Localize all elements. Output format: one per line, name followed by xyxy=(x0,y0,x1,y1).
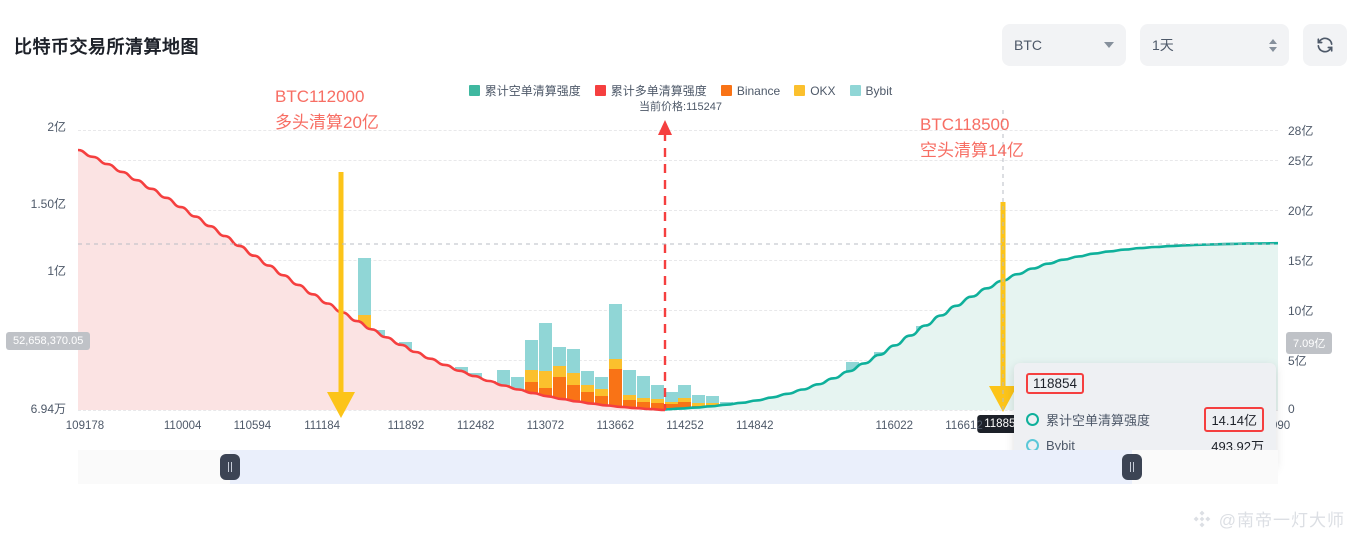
legend-label: 累计空单清算强度 xyxy=(485,82,581,99)
annotation-2-line1: BTC118500 xyxy=(920,112,1024,138)
symbol-select-value: BTC xyxy=(1014,37,1042,53)
legend-swatch xyxy=(794,85,805,96)
tooltip-series-dot xyxy=(1026,413,1039,426)
refresh-button[interactable] xyxy=(1303,24,1347,66)
legend-item-3[interactable]: OKX xyxy=(794,84,835,98)
legend-swatch xyxy=(850,85,861,96)
data-zoom-handle-right[interactable] xyxy=(1122,454,1142,480)
x-tick: 116022 xyxy=(876,420,914,432)
legend-item-4[interactable]: Bybit xyxy=(850,84,893,98)
annotation-1-line1: BTC112000 xyxy=(275,84,379,110)
legend-label: OKX xyxy=(810,84,835,98)
data-zoom-selection[interactable] xyxy=(230,450,1132,484)
annotation-1: BTC112000 多头清算20亿 xyxy=(275,84,379,135)
tooltip-row-0: 累计空单清算强度14.14亿 xyxy=(1026,407,1264,432)
x-tick: 113072 xyxy=(527,420,565,432)
cumulative-long-area xyxy=(78,150,665,410)
data-zoom-slider[interactable] xyxy=(0,450,1361,484)
legend-label: 累计多单清算强度 xyxy=(611,82,707,99)
liquidation-map-app: 比特币交易所清算地图 BTC 1天 累计空单清算强度累计多单清算强度Binanc… xyxy=(0,0,1361,539)
x-tick: 114252 xyxy=(666,420,704,432)
legend-item-0[interactable]: 累计空单清算强度 xyxy=(469,82,581,99)
period-select-value: 1天 xyxy=(1152,35,1174,55)
annotation-2-line2: 空头清算14亿 xyxy=(920,138,1024,164)
legend-item-1[interactable]: 累计多单清算强度 xyxy=(595,82,707,99)
y-axis-left-badge: 52,658,370.05 xyxy=(6,332,90,350)
x-tick: 109178 xyxy=(66,420,104,432)
stepper-icon xyxy=(1269,39,1277,52)
tooltip-header: 118854 xyxy=(1026,373,1084,394)
legend-label: Bybit xyxy=(866,84,893,98)
y-axis-right-badge: 7.09亿 xyxy=(1286,332,1332,354)
tooltip-series-value: 14.14亿 xyxy=(1204,407,1264,432)
diamond-logo-icon xyxy=(1192,509,1212,529)
legend-label: Binance xyxy=(737,84,780,98)
watermark-text: @南帝一灯大师 xyxy=(1219,506,1345,531)
x-tick: 110004 xyxy=(164,420,202,432)
chevron-down-icon xyxy=(1104,42,1114,48)
x-tick: 113662 xyxy=(596,420,634,432)
annotation-2: BTC118500 空头清算14亿 xyxy=(920,112,1024,163)
x-tick: 112482 xyxy=(457,420,495,432)
annotation-1-line2: 多头清算20亿 xyxy=(275,110,379,136)
chart-legend: 累计空单清算强度累计多单清算强度BinanceOKXBybit xyxy=(0,82,1361,99)
legend-swatch xyxy=(721,85,732,96)
data-zoom-handle-left[interactable] xyxy=(220,454,240,480)
tooltip-series-name: 累计空单清算强度 xyxy=(1046,410,1150,429)
tooltip-rows: 累计空单清算强度14.14亿Bybit493.92万 xyxy=(1026,407,1264,455)
legend-swatch xyxy=(469,85,480,96)
x-tick: 111892 xyxy=(388,420,425,432)
x-tick: 114842 xyxy=(736,420,774,432)
period-select[interactable]: 1天 xyxy=(1140,24,1289,66)
page-title: 比特币交易所清算地图 xyxy=(14,33,199,59)
header-controls: BTC 1天 xyxy=(1002,24,1347,66)
header: 比特币交易所清算地图 BTC 1天 xyxy=(0,0,1361,90)
symbol-select[interactable]: BTC xyxy=(1002,24,1126,66)
x-tick: 110594 xyxy=(234,420,272,432)
watermark: @南帝一灯大师 xyxy=(1192,506,1345,531)
current-price-marker-arrow xyxy=(658,120,672,135)
legend-swatch xyxy=(595,85,606,96)
data-zoom-track[interactable] xyxy=(78,450,1278,484)
refresh-icon xyxy=(1315,35,1335,55)
x-tick: 111184 xyxy=(304,420,340,432)
x-tick: 116612 xyxy=(945,420,983,432)
legend-item-2[interactable]: Binance xyxy=(721,84,780,98)
